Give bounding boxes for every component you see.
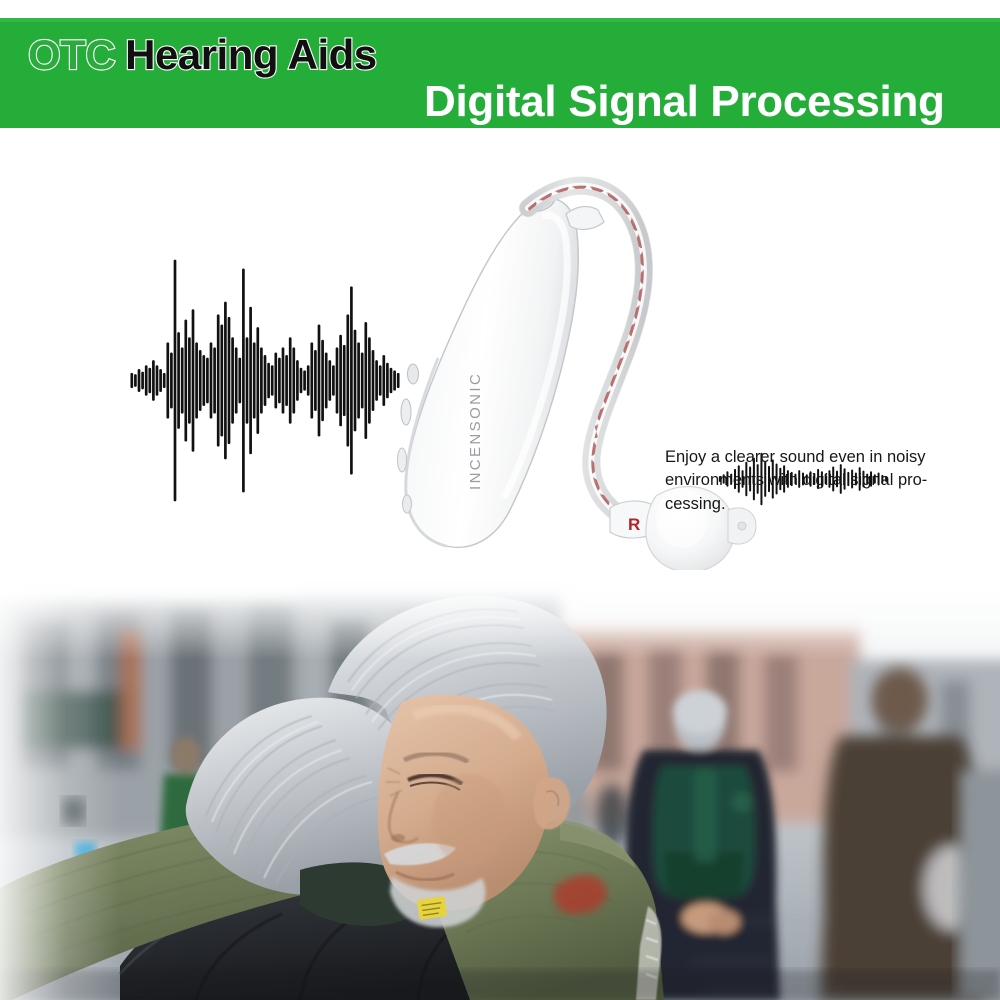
product-marketing-image: OTCHearing Aids Digital Signal Processin… xyxy=(0,0,1000,1000)
banner-top-strip xyxy=(0,18,1000,22)
product-stage: R INCENSONIC Enjoy a clearer sound even … xyxy=(0,128,1000,580)
headline-secondary: Digital Signal Processing xyxy=(424,80,945,124)
header-banner: OTCHearing Aids Digital Signal Processin… xyxy=(0,18,1000,128)
device-hook-connector xyxy=(566,207,604,230)
lifestyle-photo xyxy=(0,570,1000,1000)
headline-otc: OTC xyxy=(28,31,115,78)
device-brand-label: INCENSONIC xyxy=(467,372,484,490)
headline-primary: OTCHearing Aids xyxy=(28,34,377,76)
yellow-tag xyxy=(417,896,448,920)
product-description: Enjoy a clearer sound even in noisy envi… xyxy=(665,446,970,516)
photo-illustration xyxy=(0,570,1000,1000)
pedestrian-edge-right xyxy=(958,770,1000,1000)
device-shell xyxy=(406,198,579,547)
ear-side-marker-R: R xyxy=(628,515,640,534)
headline-hearing-aids: Hearing Aids xyxy=(125,31,377,78)
wall-fixture xyxy=(62,798,84,824)
